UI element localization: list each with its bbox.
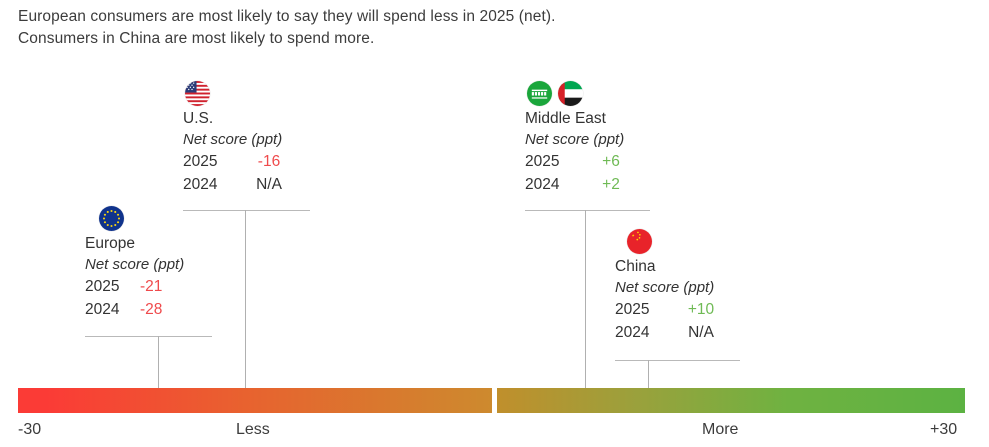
score-row-us-2025: 2025 -16: [183, 150, 297, 173]
score-value: -21: [140, 275, 190, 298]
score-row-us-2024: 2024 N/A: [183, 173, 297, 196]
scale-bar-negative: [18, 388, 492, 413]
saudi-arabia-flag-icon: [527, 81, 552, 106]
callout-leader-line-us: [245, 210, 246, 389]
score-value: N/A: [241, 173, 297, 196]
year-label: 2024: [183, 173, 241, 196]
flag-group-europe: [85, 205, 190, 231]
region-name-middle-east: Middle East: [525, 109, 639, 129]
axis-label-min: -30: [18, 421, 41, 439]
callout-europe: Europe Net score (ppt) 2025 -21 2024 -28: [85, 205, 190, 321]
china-flag-icon: [627, 229, 652, 254]
uae-flag-icon: [558, 81, 583, 106]
flag-group-china: [615, 228, 729, 254]
score-value: N/A: [673, 321, 729, 344]
score-value: +6: [583, 150, 639, 173]
score-row-china-2025: 2025 +10: [615, 298, 729, 321]
metric-label-europe: Net score (ppt): [85, 254, 190, 275]
callout-china: China Net score (ppt) 2025 +10 2024 N/A: [615, 228, 729, 344]
page-title: European consumers are most likely to sa…: [18, 6, 918, 50]
score-row-middle-east-2024: 2024 +2: [525, 173, 639, 196]
headline-line-2: Consumers in China are most likely to sp…: [18, 28, 918, 50]
score-value: -16: [241, 150, 297, 173]
region-name-us: U.S.: [183, 109, 297, 129]
score-value: -28: [140, 298, 190, 321]
metric-label-us: Net score (ppt): [183, 129, 297, 150]
callout-middle-east: Middle East Net score (ppt) 2025 +6 2024…: [525, 80, 639, 196]
callout-us: U.S. Net score (ppt) 2025 -16 2024 N/A: [183, 80, 297, 196]
callout-leader-line-china: [648, 360, 649, 389]
callout-leader-line-europe: [158, 336, 159, 389]
year-label: 2024: [525, 173, 583, 196]
region-name-europe: Europe: [85, 234, 190, 254]
flag-group-middle-east: [525, 80, 639, 106]
callout-rule-china: [615, 360, 740, 361]
year-label: 2025: [615, 298, 673, 321]
callout-rule-us: [183, 210, 310, 211]
metric-label-china: Net score (ppt): [615, 277, 729, 298]
axis-label-max: +30: [930, 421, 957, 439]
year-label: 2025: [525, 150, 583, 173]
flag-group-us: [183, 80, 297, 106]
us-flag-icon: [185, 81, 210, 106]
metric-label-middle-east: Net score (ppt): [525, 129, 639, 150]
score-row-middle-east-2025: 2025 +6: [525, 150, 639, 173]
score-row-europe-2024: 2024 -28: [85, 298, 190, 321]
callout-rule-middle-east: [525, 210, 650, 211]
axis-label-less: Less: [236, 421, 270, 439]
year-label: 2025: [85, 275, 140, 298]
region-name-china: China: [615, 257, 729, 277]
callout-rule-europe: [85, 336, 212, 337]
year-label: 2024: [85, 298, 140, 321]
axis-label-more: More: [702, 421, 738, 439]
score-row-china-2024: 2024 N/A: [615, 321, 729, 344]
eu-flag-icon: [99, 206, 124, 231]
scale-bar-positive: [497, 388, 965, 413]
callout-leader-line-middle-east: [585, 210, 586, 389]
score-value: +2: [583, 173, 639, 196]
year-label: 2024: [615, 321, 673, 344]
score-row-europe-2025: 2025 -21: [85, 275, 190, 298]
headline-line-1: European consumers are most likely to sa…: [18, 6, 918, 28]
score-value: +10: [673, 298, 729, 321]
year-label: 2025: [183, 150, 241, 173]
